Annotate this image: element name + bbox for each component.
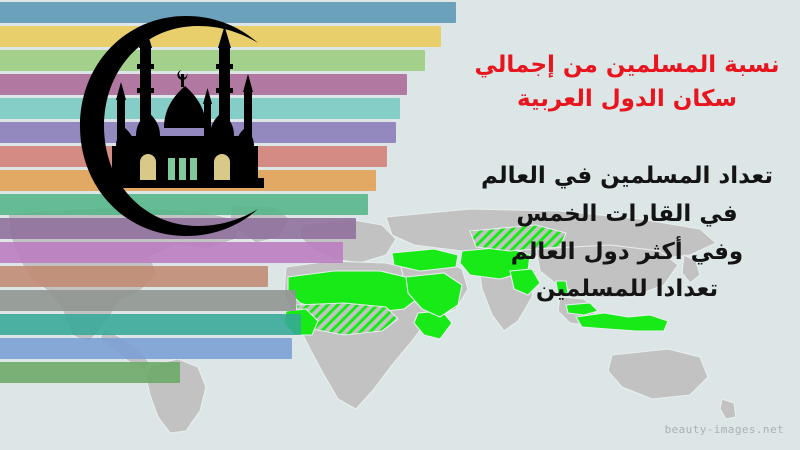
chart-bar[interactable] [0,362,180,383]
watermark: beauty-images.net [665,423,784,436]
chart-bar[interactable] [0,98,400,119]
chart-bar[interactable] [0,314,301,335]
subtitle-line-4: تعدادا للمسلمين [462,271,792,309]
chart-bar[interactable] [0,338,292,359]
chart-bar[interactable] [0,146,387,167]
subtitle-line-1: تعداد المسلمين في العالم [462,158,792,196]
subtitle-line-2: في القارات الخمس [462,196,792,234]
chart-bar[interactable] [0,74,407,95]
chart-bar[interactable] [0,170,376,191]
chart-bar[interactable] [0,266,268,287]
chart-bar[interactable] [0,122,396,143]
page-subtitle: تعداد المسلمين في العالم في القارات الخم… [462,158,792,309]
chart-bar[interactable] [0,242,343,263]
title-line-1: نسبة المسلمين من إجمالي [462,48,792,82]
chart-bar[interactable] [0,290,296,311]
chart-bar[interactable] [0,26,441,47]
chart-bar[interactable] [0,218,356,239]
chart-bar[interactable] [0,2,456,23]
subtitle-line-3: وفي أكثر دول العالم [462,234,792,272]
title-line-2: سكان الدول العربية [462,82,792,116]
text-panel: نسبة المسلمين من إجمالي سكان الدول العرب… [462,48,792,309]
chart-bar[interactable] [0,194,368,215]
chart-bar[interactable] [0,50,425,71]
page-title: نسبة المسلمين من إجمالي سكان الدول العرب… [462,48,792,116]
infographic-canvas: نسبة المسلمين من إجمالي سكان الدول العرب… [0,0,800,450]
